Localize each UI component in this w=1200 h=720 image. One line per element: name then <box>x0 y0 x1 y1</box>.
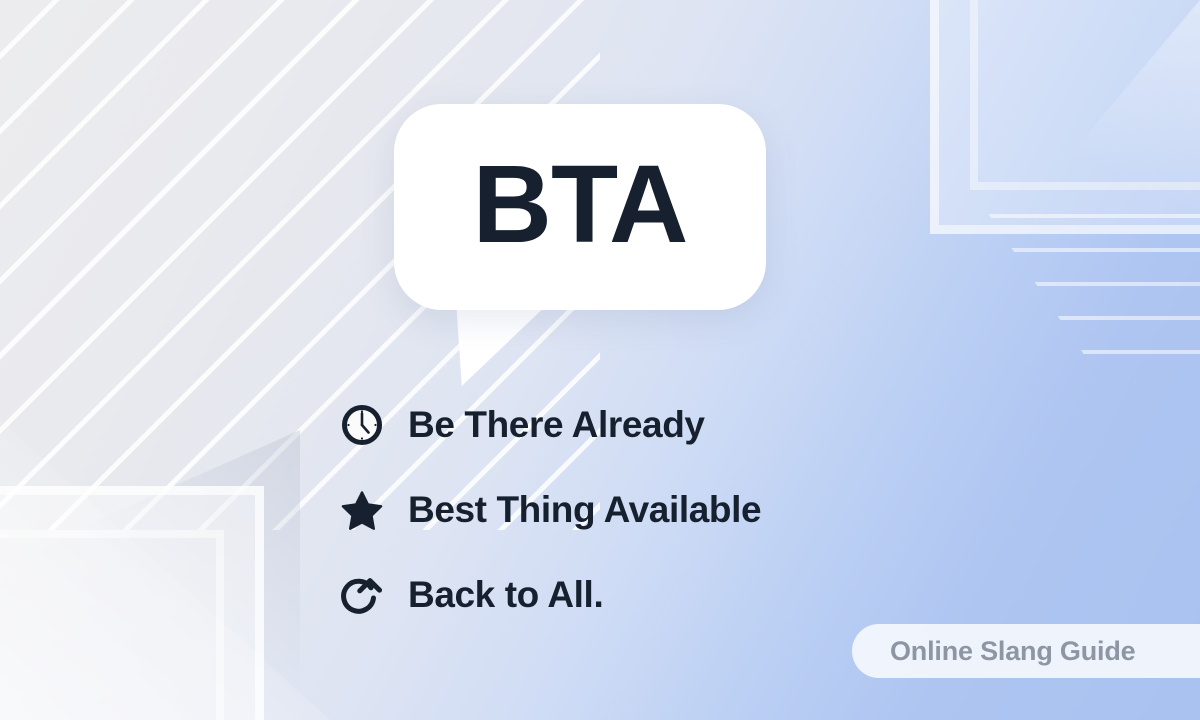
star-icon <box>340 488 384 532</box>
clock-icon <box>340 403 384 447</box>
list-item: Back to All. <box>340 566 761 623</box>
meaning-label: Be There Already <box>408 404 705 446</box>
list-item: Be There Already <box>340 396 761 453</box>
meaning-label: Best Thing Available <box>408 489 761 531</box>
hairlines-top-right <box>900 214 1200 364</box>
wedge-top-right <box>990 0 1200 250</box>
frame-top-right-outer <box>930 0 1200 234</box>
meaning-label: Back to All. <box>408 574 603 616</box>
frame-top-right-inner <box>970 0 1200 190</box>
wedge-bottom-left <box>0 420 330 720</box>
source-badge-label: Online Slang Guide <box>890 636 1135 667</box>
speech-bubble-tail <box>456 300 552 386</box>
shade-bottom-left <box>0 430 300 720</box>
frame-bottom-left-outer <box>0 486 264 720</box>
list-item: Best Thing Available <box>340 481 761 538</box>
meanings-list: Be There Already Best Thing Available Ba… <box>340 396 761 623</box>
acronym-speech-bubble: BTA <box>394 104 766 310</box>
acronym-text: BTA <box>394 104 766 310</box>
frame-bottom-left-inner <box>0 530 224 720</box>
slang-card: BTA Be There Already <box>0 0 1200 720</box>
source-badge: Online Slang Guide <box>852 624 1200 678</box>
redo-arrow-icon <box>340 573 384 617</box>
